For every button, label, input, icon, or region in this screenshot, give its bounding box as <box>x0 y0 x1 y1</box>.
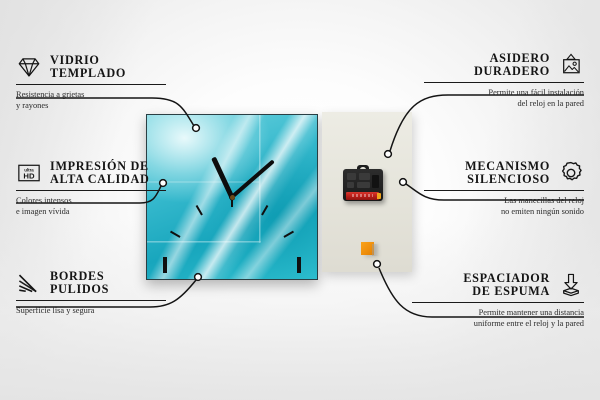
clock-dial <box>147 115 317 279</box>
svg-text:HD: HD <box>23 172 35 181</box>
feature-asidero-duradero: ASIDERO DURADERO Permite una fácil insta… <box>424 52 584 110</box>
feature-description: Resistencia a grietas y rayones <box>16 89 166 112</box>
clock-mechanism <box>343 165 383 201</box>
diagonal-lines-icon <box>16 270 42 296</box>
feature-divider <box>412 302 584 303</box>
feature-impresion-alta-calidad: ultra HD IMPRESIÓN DE ALTA CALIDAD Color… <box>16 160 166 218</box>
gear-icon <box>558 160 584 186</box>
hour-marker <box>283 231 294 238</box>
battery <box>346 192 379 200</box>
feature-divider <box>16 190 166 191</box>
feature-divider <box>424 82 584 83</box>
infographic-canvas: VIDRIO TEMPLADO Resistencia a grietas y … <box>0 0 600 400</box>
feature-description: Las manecillas del reloj no emiten ningú… <box>424 195 584 218</box>
feature-divider <box>424 190 584 191</box>
feature-mecanismo-silencioso: MECANISMO SILENCIOSO Las manecillas del … <box>424 160 584 218</box>
diamond-icon <box>16 54 42 80</box>
hour-marker <box>297 257 301 273</box>
feature-title-line: SILENCIOSO <box>467 173 550 186</box>
feature-divider <box>16 84 166 85</box>
feature-description: Permite mantener una distancia uniforme … <box>412 307 584 330</box>
product-clock-face <box>146 114 318 280</box>
foam-spacer-piece <box>361 242 374 255</box>
hour-marker <box>261 205 268 216</box>
feature-title-line: PULIDOS <box>50 283 109 296</box>
feature-title-line: DURADERO <box>474 65 550 78</box>
feature-vidrio-templado: VIDRIO TEMPLADO Resistencia a grietas y … <box>16 54 166 112</box>
ultra-hd-icon: ultra HD <box>16 160 42 186</box>
feature-title-line: DE ESPUMA <box>472 285 550 298</box>
picture-hanger-icon <box>558 52 584 78</box>
mechanism-body <box>343 169 383 201</box>
feature-description: Colores intensos e imagen vívida <box>16 195 166 218</box>
feature-description: Permite una fácil instalación del reloj … <box>424 87 584 110</box>
feature-description: Superficie lisa y segura <box>16 305 166 316</box>
hour-marker <box>170 231 181 238</box>
feature-espaciador-de-espuma: ESPACIADOR DE ESPUMA Permite mantener un… <box>412 272 584 330</box>
feature-divider <box>16 300 166 301</box>
foam-spacer-icon <box>558 272 584 298</box>
minute-hand <box>228 159 274 200</box>
feature-bordes-pulidos: BORDES PULIDOS Superficie lisa y segura <box>16 270 166 316</box>
feature-title-line: ALTA CALIDAD <box>50 173 150 186</box>
feature-title-line: TEMPLADO <box>50 67 126 80</box>
hour-marker <box>196 205 203 216</box>
center-cap <box>230 195 235 200</box>
